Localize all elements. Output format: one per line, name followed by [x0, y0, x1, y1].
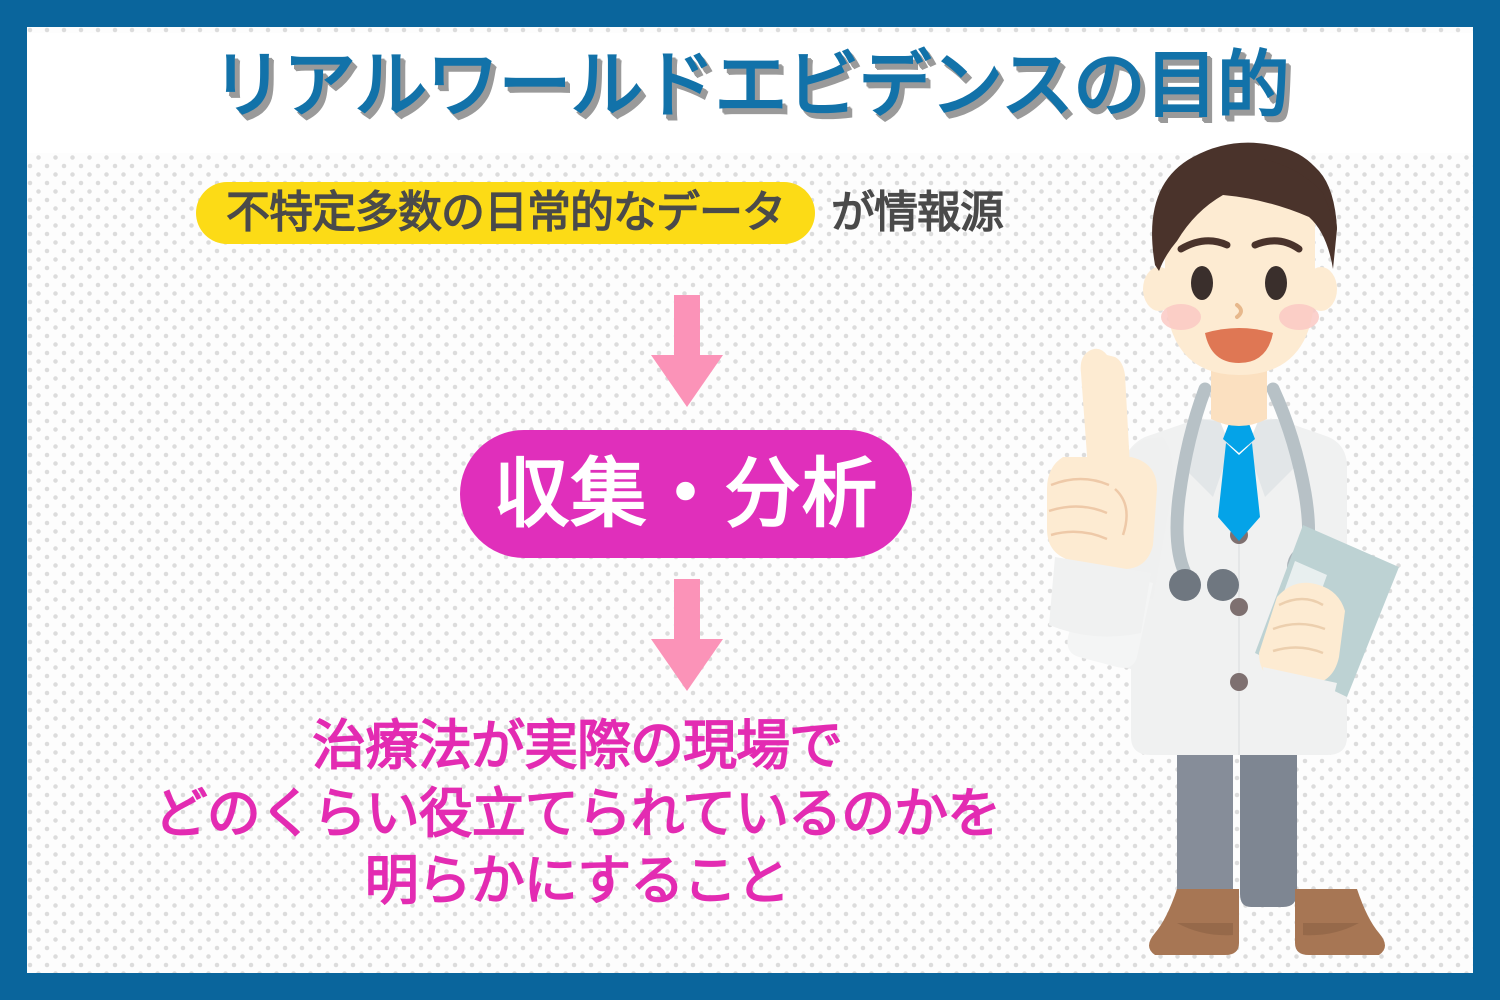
- infographic-root: リアルワールドエビデンスの目的 不特定多数の日常的なデータ が情報源 収集・分析…: [0, 0, 1500, 1000]
- arrow-head: [651, 355, 723, 407]
- stethoscope-earpiece: [1169, 569, 1201, 601]
- doctor-illustration: [1027, 137, 1457, 967]
- coat-button: [1230, 598, 1248, 616]
- source-row: 不特定多数の日常的なデータ が情報源: [196, 182, 1003, 244]
- blush-left: [1161, 304, 1201, 330]
- arrow-down-icon-bottom: [651, 579, 723, 689]
- stethoscope-earpiece: [1207, 569, 1239, 601]
- coat-button: [1230, 673, 1248, 691]
- conclusion-line-2: どのくらい役立てられているのかを: [27, 780, 1127, 848]
- blush-right: [1279, 304, 1319, 330]
- page-title: リアルワールドエビデンスの目的: [27, 49, 1473, 122]
- eye-right: [1265, 266, 1287, 300]
- dotted-canvas: リアルワールドエビデンスの目的 不特定多数の日常的なデータ が情報源 収集・分析…: [27, 27, 1473, 973]
- action-pill-label: 収集・分析: [494, 456, 879, 532]
- source-suffix-label: が情報源: [831, 191, 1003, 235]
- arrow-down-icon-top: [651, 295, 723, 405]
- necktie: [1218, 421, 1260, 541]
- eye-left: [1191, 266, 1213, 300]
- conclusion-line-3: 明らかにすること: [27, 847, 1127, 915]
- action-pill: 収集・分析: [460, 430, 912, 558]
- conclusion-block: 治療法が実際の現場で どのくらい役立てられているのかを 明らかにすること: [27, 712, 1127, 915]
- arrow-shaft: [674, 579, 700, 643]
- head: [1143, 143, 1337, 375]
- arrow-shaft: [674, 295, 700, 359]
- arrow-head: [651, 639, 723, 691]
- source-pill: 不特定多数の日常的なデータ: [196, 182, 815, 244]
- left-hand-pointing: [1047, 349, 1157, 637]
- source-pill-label: 不特定多数の日常的なデータ: [226, 191, 785, 235]
- conclusion-line-1: 治療法が実際の現場で: [27, 712, 1127, 780]
